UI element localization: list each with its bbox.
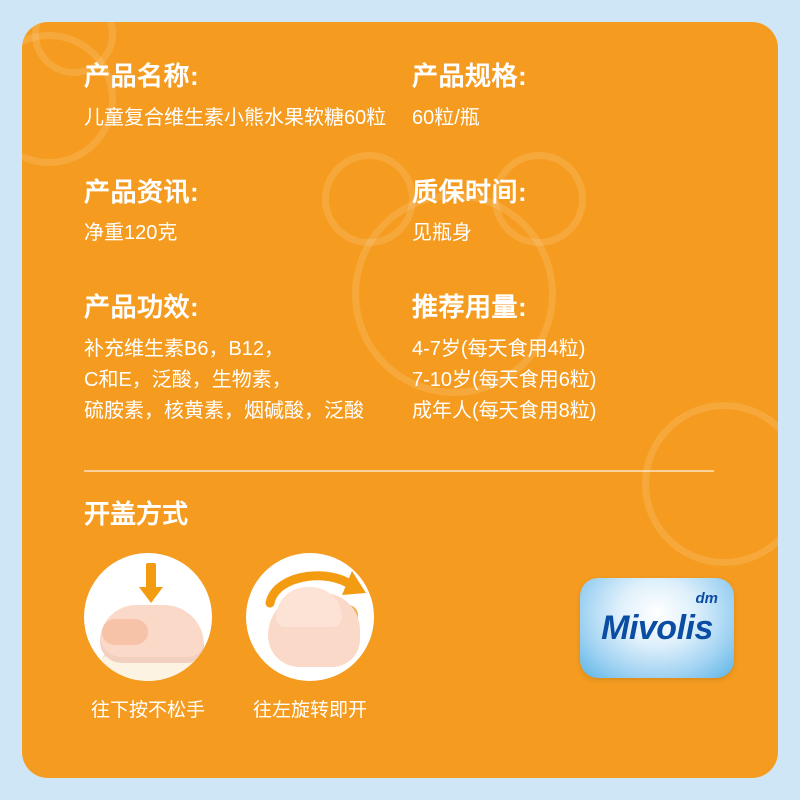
field-value-line: 见瓶身	[412, 218, 778, 249]
orange-info-card: 产品名称: 儿童复合维生素小熊水果软糖60粒 产品规格: 60粒/瓶	[22, 22, 778, 778]
field-value: 儿童复合维生素小熊水果软糖60粒	[84, 103, 412, 134]
field-title: 产品名称:	[84, 62, 412, 91]
thumb-shape	[102, 619, 148, 645]
hand-press-down-icon	[84, 553, 212, 681]
field-value: 补充维生素B6，B12， C和E，泛酸，生物素， 硫胺素，核黄素，烟碱酸，泛酸	[84, 334, 412, 427]
info-field-product-name: 产品名称: 儿童复合维生素小熊水果软糖60粒	[22, 62, 412, 134]
info-row: 产品资讯: 净重120克 质保时间: 见瓶身	[22, 178, 778, 250]
hand-twist-left-icon	[246, 553, 374, 681]
field-value-line: C和E，泛酸，生物素，	[84, 365, 412, 396]
info-field-warranty: 质保时间: 见瓶身	[412, 178, 778, 250]
field-title: 推荐用量:	[412, 293, 778, 322]
card-content: 产品名称: 儿童复合维生素小熊水果软糖60粒 产品规格: 60粒/瓶	[22, 22, 778, 778]
field-title: 产品功效:	[84, 293, 412, 322]
field-value-line: 补充维生素B6，B12，	[84, 334, 412, 365]
field-value: 4-7岁(每天食用4粒) 7-10岁(每天食用6粒) 成年人(每天食用8粒)	[412, 334, 778, 427]
field-value: 净重120克	[84, 218, 412, 249]
info-field-benefits: 产品功效: 补充维生素B6，B12， C和E，泛酸，生物素， 硫胺素，核黄素，烟…	[22, 293, 412, 427]
spacer	[22, 249, 778, 293]
open-cap-title: 开盖方式	[84, 494, 744, 531]
field-title: 产品资讯:	[84, 178, 412, 207]
field-value: 见瓶身	[412, 218, 778, 249]
arrow-down-head-icon	[139, 587, 163, 603]
field-title: 产品规格:	[412, 62, 778, 91]
open-cap-step-label: 往左旋转即开	[246, 695, 374, 722]
open-cap-step-label: 往下按不松手	[84, 695, 212, 722]
open-cap-step: 往下按不松手	[84, 553, 212, 722]
field-title: 质保时间:	[412, 178, 778, 207]
arrow-down-icon	[146, 563, 156, 589]
section-divider	[84, 470, 714, 472]
field-value-line: 7-10岁(每天食用6粒)	[412, 365, 778, 396]
spacer	[22, 134, 778, 178]
field-value-line: 4-7岁(每天食用4粒)	[412, 334, 778, 365]
info-row: 产品功效: 补充维生素B6，B12， C和E，泛酸，生物素， 硫胺素，核黄素，烟…	[22, 293, 778, 427]
open-cap-step: 往左旋转即开	[246, 553, 374, 722]
info-field-dosage: 推荐用量: 4-7岁(每天食用4粒) 7-10岁(每天食用6粒) 成年人(每天食…	[412, 293, 778, 427]
info-field-specification: 产品规格: 60粒/瓶	[412, 62, 778, 134]
field-value-line: 60粒/瓶	[412, 103, 778, 134]
mivolis-logo: Mivolis dm	[580, 578, 734, 678]
product-info-page: 产品名称: 儿童复合维生素小熊水果软糖60粒 产品规格: 60粒/瓶	[0, 0, 800, 800]
info-field-product-details: 产品资讯: 净重120克	[22, 178, 412, 250]
brand-sub-name: dm	[696, 590, 719, 607]
field-value: 60粒/瓶	[412, 103, 778, 134]
product-info-grid: 产品名称: 儿童复合维生素小熊水果软糖60粒 产品规格: 60粒/瓶	[22, 62, 778, 427]
info-row: 产品名称: 儿童复合维生素小熊水果软糖60粒 产品规格: 60粒/瓶	[22, 62, 778, 134]
field-value-line: 成年人(每天食用8粒)	[412, 396, 778, 427]
field-value-line: 硫胺素，核黄素，烟碱酸，泛酸	[84, 396, 412, 427]
field-value-line: 净重120克	[84, 218, 412, 249]
brand-name: Mivolis	[601, 609, 713, 648]
field-value-line: 儿童复合维生素小熊水果软糖60粒	[84, 103, 412, 134]
